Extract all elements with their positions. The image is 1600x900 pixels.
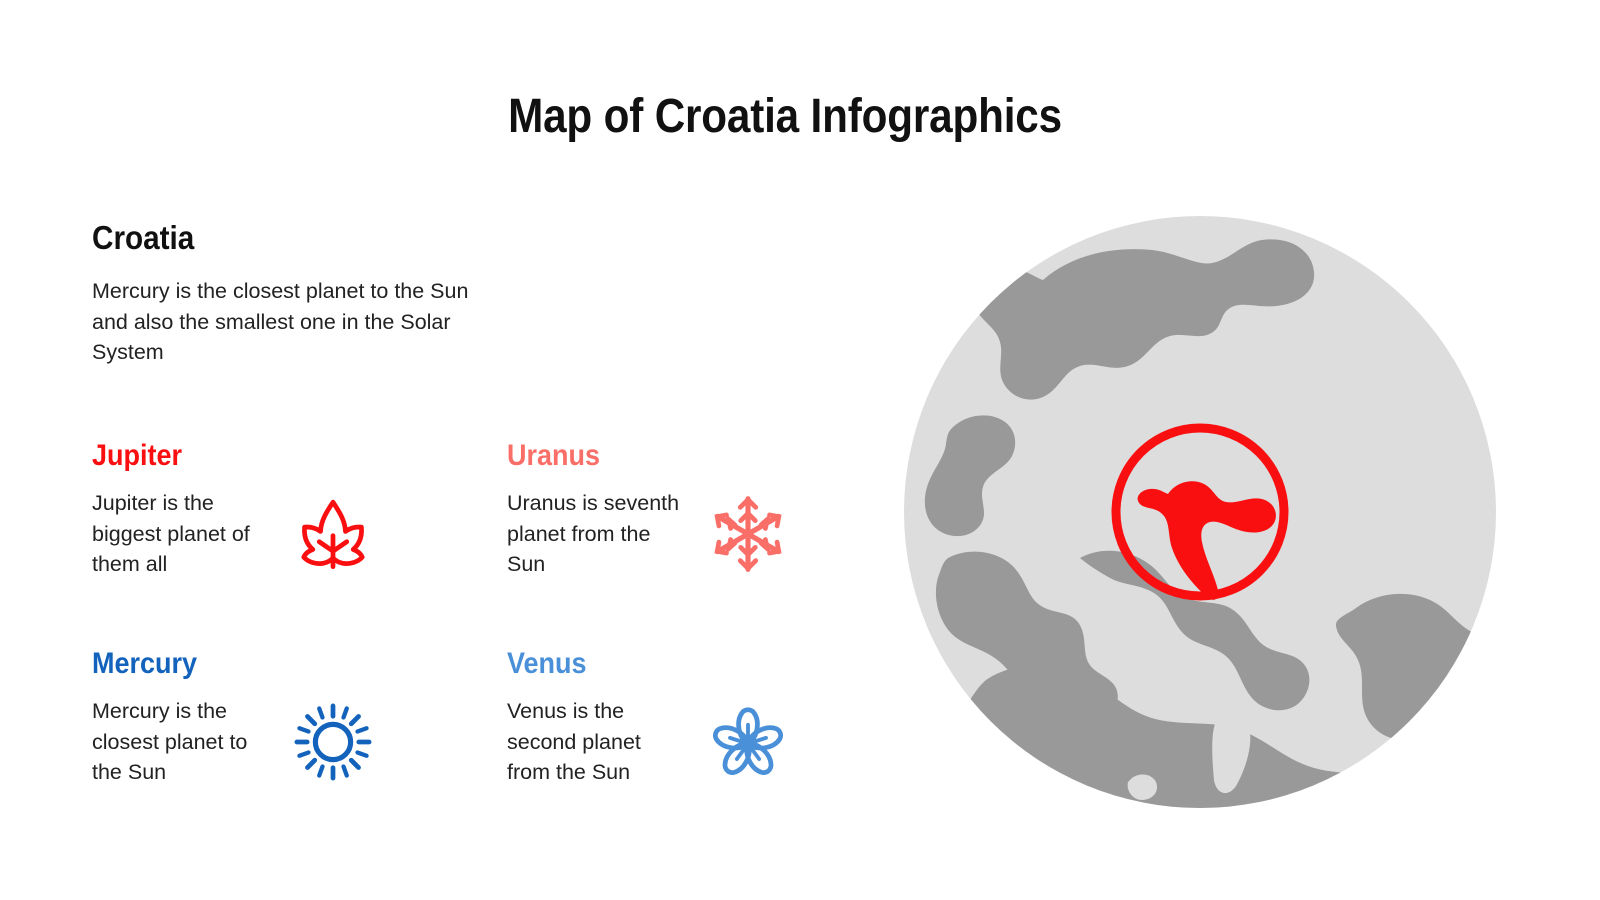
planet-card-body: Jupiter is the biggest planet of them al…	[92, 488, 272, 580]
maple-leaf-icon	[290, 491, 376, 577]
intro-heading: Croatia	[92, 218, 758, 258]
planet-card-grid: Jupiter Jupiter is the biggest planet of…	[92, 438, 852, 854]
snowflake-icon	[705, 491, 791, 577]
sun-icon	[290, 699, 376, 785]
planet-card-content: Mercury is the closest planet to the Sun	[92, 696, 507, 788]
planet-card-mercury[interactable]: Mercury Mercury is the closest planet to…	[92, 646, 507, 854]
planet-card-content: Venus is the second planet from the Sun	[507, 696, 852, 788]
planet-card-content: Uranus is seventh planet from the Sun	[507, 488, 852, 580]
planet-card-title: Venus	[507, 646, 818, 682]
planet-card-venus[interactable]: Venus Venus is the second planet from th…	[507, 646, 852, 854]
planet-card-title: Jupiter	[92, 438, 466, 474]
planet-card-title: Mercury	[92, 646, 466, 682]
planet-card-content: Jupiter is the biggest planet of them al…	[92, 488, 507, 580]
planet-card-body: Venus is the second planet from the Sun	[507, 696, 687, 788]
globe-svg	[900, 210, 1504, 814]
planet-card-jupiter[interactable]: Jupiter Jupiter is the biggest planet of…	[92, 438, 507, 646]
planet-card-uranus[interactable]: Uranus Uranus is seventh planet from the…	[507, 438, 852, 646]
planet-card-body: Mercury is the closest planet to the Sun	[92, 696, 272, 788]
flower-icon	[705, 699, 791, 785]
europe-globe-map[interactable]	[900, 210, 1504, 814]
intro-block: Croatia Mercury is the closest planet to…	[92, 218, 832, 368]
planet-card-body: Uranus is seventh planet from the Sun	[507, 488, 687, 580]
intro-body-text: Mercury is the closest planet to the Sun…	[92, 276, 492, 368]
page-title: Map of Croatia Infographics	[94, 88, 1476, 146]
planet-card-title: Uranus	[507, 438, 818, 474]
